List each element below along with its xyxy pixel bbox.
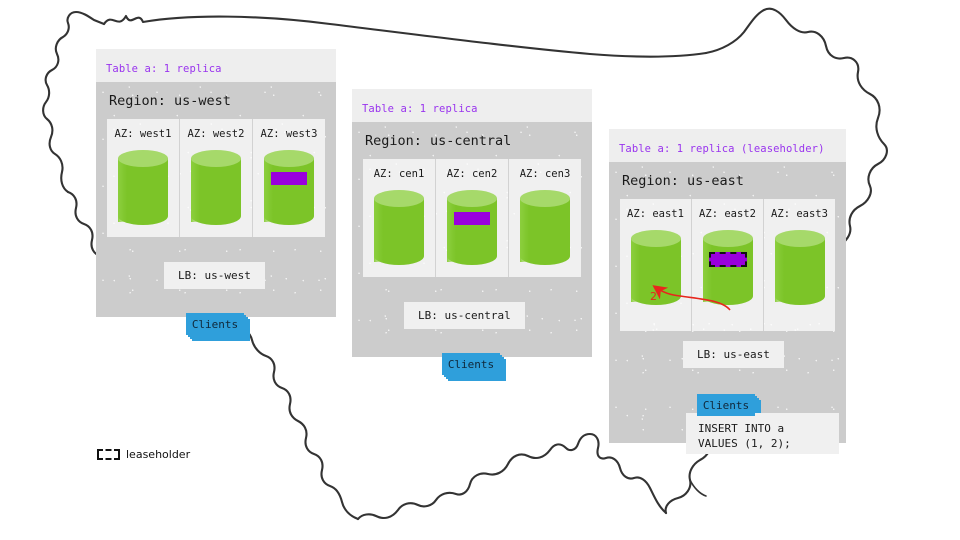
cylinder-shading [775,238,784,302]
legend: leaseholder [97,448,190,461]
az-column-cen3: AZ: cen3 [508,159,581,277]
region-header-banner-us-east: Table a: 1 replica (leaseholder) [609,129,846,162]
arrow-step-number: 2 [650,290,657,303]
region-card-us-east: Table a: 1 replica (leaseholder) Region:… [609,129,846,443]
cylinder-top [374,190,424,207]
region-title-us-east: Region: us-east [609,162,846,199]
az-panel-us-west: AZ: west1 AZ: west2 AZ [107,119,325,237]
sql-statement-box: INSERT INTO a VALUES (1, 2); [686,413,839,454]
az-panel-us-east: AZ: east1 AZ: east2 [620,199,835,331]
database-cylinder-east3[interactable] [775,230,825,304]
clients-button-label[interactable]: Clients [186,313,244,335]
database-cylinder-cen2[interactable] [447,190,497,264]
region-body-us-west: Region: us-west AZ: west1 AZ: west2 [96,82,336,317]
cylinder-shading [631,238,640,302]
cylinder-top [703,230,753,247]
cylinder-top [264,150,314,167]
az-label: AZ: east2 [699,208,756,220]
region-header-banner-us-west: Table a: 1 replica [96,49,336,82]
cylinder-shading [703,238,712,302]
az-column-east2: AZ: east2 [691,199,763,331]
cylinder-top [447,190,497,207]
cylinder-shading [374,198,383,262]
az-column-west2: AZ: west2 [179,119,252,237]
az-column-west3: AZ: west3 [252,119,325,237]
leaseholder-swatch-icon [97,449,120,460]
region-body-us-east: Region: us-east AZ: east1 AZ: east2 [609,162,846,443]
cylinder-shading [520,198,529,262]
az-label: AZ: west2 [188,128,245,140]
table-replica-label-us-east: Table a: 1 replica (leaseholder) [619,143,825,155]
cylinder-top [631,230,681,247]
database-cylinder-west2[interactable] [191,150,241,224]
az-label: AZ: east1 [627,208,684,220]
az-column-east3: AZ: east3 [763,199,835,331]
az-panel-us-central: AZ: cen1 AZ: cen2 [363,159,581,277]
clients-button-label[interactable]: Clients [697,394,755,416]
region-title-us-west: Region: us-west [96,82,336,119]
region-body-us-central: Region: us-central AZ: cen1 AZ: cen2 [352,122,592,357]
cylinder-top [520,190,570,207]
database-cylinder-west3[interactable] [264,150,314,224]
cylinder-shading [447,198,456,262]
az-label: AZ: east3 [771,208,828,220]
cylinder-shading [118,158,127,222]
region-header-banner-us-central: Table a: 1 replica [352,89,592,122]
diagram-canvas: Table a: 1 replica Region: us-west AZ: w… [0,0,960,540]
az-label: AZ: cen3 [520,168,571,180]
cylinder-top [191,150,241,167]
table-replica-label-us-west: Table a: 1 replica [106,63,222,75]
az-label: AZ: cen2 [447,168,498,180]
az-label: AZ: cen1 [374,168,425,180]
az-label: AZ: west3 [261,128,318,140]
region-title-us-central: Region: us-central [352,122,592,159]
region-card-us-west: Table a: 1 replica Region: us-west AZ: w… [96,49,336,317]
replica-marker-west3 [271,172,307,185]
region-card-us-central: Table a: 1 replica Region: us-central AZ… [352,89,592,357]
load-balancer-box-us-east[interactable]: LB: us-east [683,341,784,368]
clients-stack-us-east[interactable]: Clients [697,394,757,418]
clients-button-label[interactable]: Clients [442,353,500,375]
cylinder-top [775,230,825,247]
load-balancer-box-us-central[interactable]: LB: us-central [404,302,525,329]
database-cylinder-cen1[interactable] [374,190,424,264]
database-cylinder-west1[interactable] [118,150,168,224]
database-cylinder-cen3[interactable] [520,190,570,264]
az-column-east1: AZ: east1 [620,199,691,331]
cylinder-top [118,150,168,167]
cylinder-shading [264,158,273,222]
az-column-west1: AZ: west1 [107,119,179,237]
database-cylinder-east2[interactable] [703,230,753,304]
replica-marker-cen2 [454,212,490,225]
az-column-cen1: AZ: cen1 [363,159,435,277]
cylinder-shading [191,158,200,222]
clients-stack-us-west[interactable]: Clients [186,313,246,337]
load-balancer-box-us-west[interactable]: LB: us-west [164,262,265,289]
az-column-cen2: AZ: cen2 [435,159,508,277]
legend-label: leaseholder [126,448,190,461]
az-label: AZ: west1 [115,128,172,140]
leaseholder-replica-marker-east2 [709,252,747,267]
clients-stack-us-central[interactable]: Clients [442,353,502,377]
table-replica-label-us-central: Table a: 1 replica [362,103,478,115]
